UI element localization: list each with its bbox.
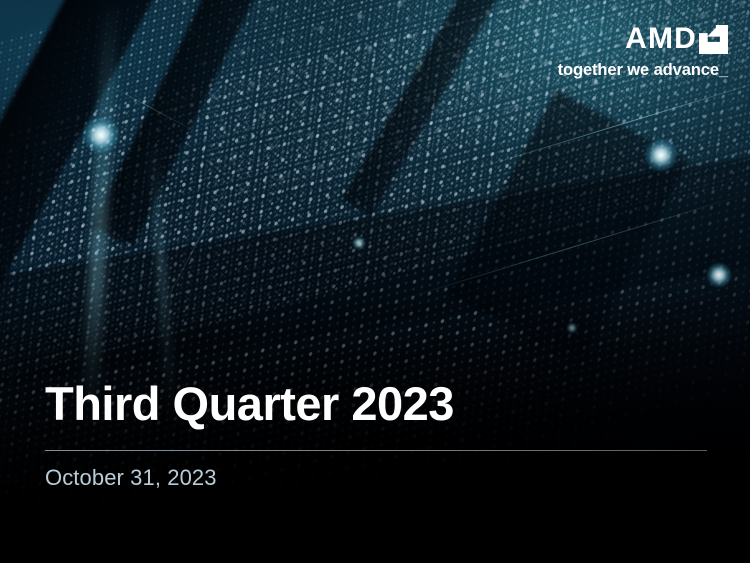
- slide-date: October 31, 2023: [45, 467, 713, 489]
- dark-slab: [342, 0, 521, 217]
- glow-particle: [706, 262, 732, 288]
- amd-tagline: together we advance_: [558, 62, 728, 79]
- light-streak: [96, 78, 202, 135]
- title-block: Third Quarter 2023 October 31, 2023: [45, 378, 713, 489]
- light-streak: [470, 74, 750, 171]
- light-streak: [150, 145, 249, 331]
- amd-wordmark: AMD: [625, 24, 697, 54]
- glow-particle: [566, 322, 578, 334]
- amd-wordmark-row: AMD: [558, 24, 728, 54]
- glow-particle: [82, 116, 120, 154]
- amd-arrow-icon: [699, 25, 728, 54]
- dark-slab: [91, 0, 277, 247]
- presentation-slide: AMD together we advance_ Third Quarter 2…: [0, 0, 750, 563]
- title-divider: [45, 450, 707, 451]
- glow-particle: [644, 138, 678, 172]
- dark-slab: [0, 0, 181, 317]
- glow-particle: [352, 236, 366, 250]
- amd-logo-lockup: AMD together we advance_: [558, 24, 728, 79]
- page-title: Third Quarter 2023: [45, 378, 713, 430]
- dark-slab: [0, 147, 750, 393]
- light-streak: [398, 192, 750, 301]
- dark-slab: [448, 90, 688, 363]
- light-shaft: [81, 0, 119, 430]
